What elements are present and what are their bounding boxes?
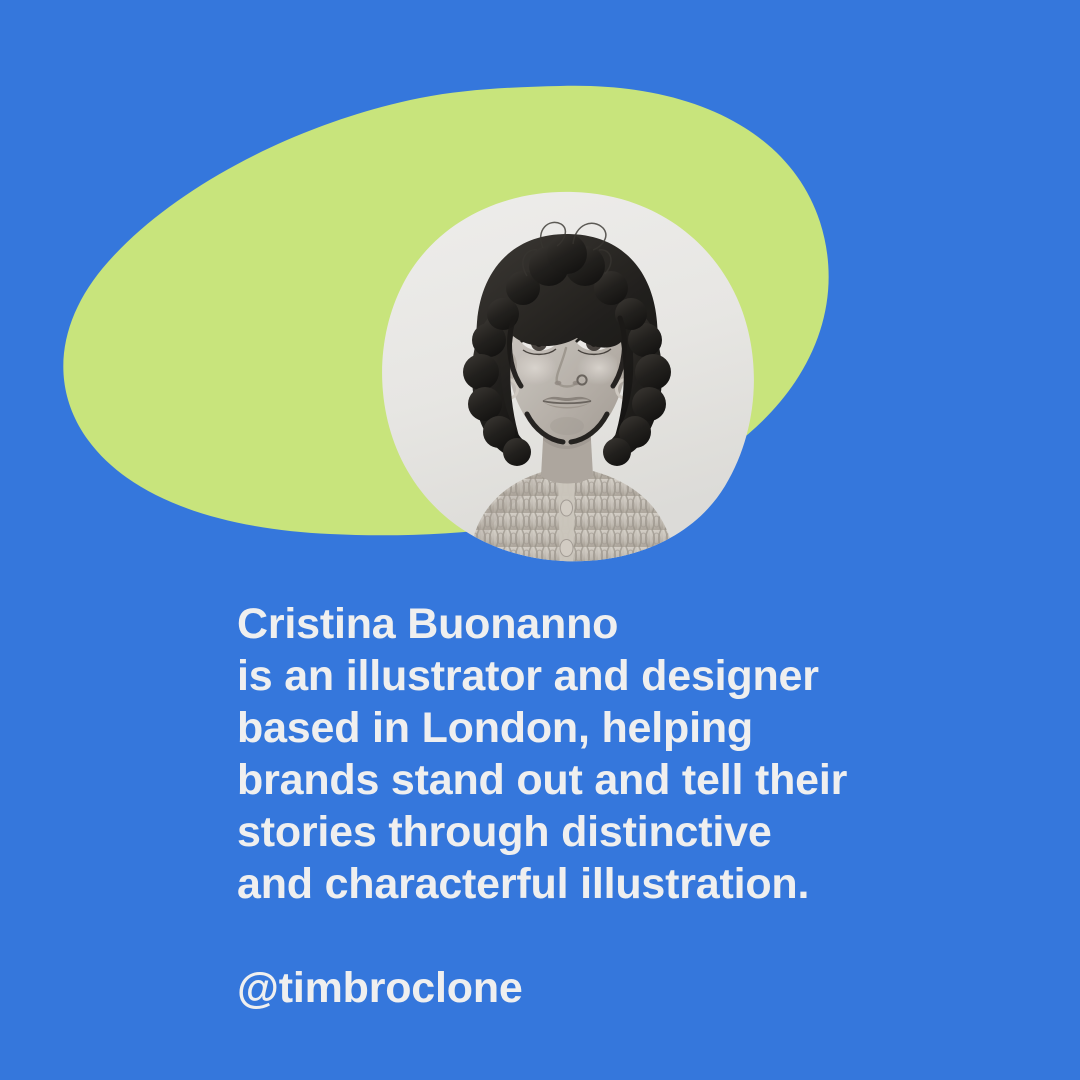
bio-line-5: stories through distinctive	[237, 806, 997, 858]
social-profile-card: Black and white portrait photograph of C…	[0, 0, 1080, 1080]
social-handle[interactable]: @timbroclone	[237, 962, 997, 1014]
bio-line-3: based in London, helping	[237, 702, 997, 754]
portrait-photo: Black and white portrait photograph of C…	[377, 190, 757, 562]
portrait-image-group	[377, 190, 757, 562]
bio-text-block: Cristina Buonanno is an illustrator and …	[237, 598, 997, 1014]
bio-line-name: Cristina Buonanno	[237, 598, 997, 650]
portrait-blob-mask: Black and white portrait photograph of C…	[377, 190, 757, 562]
bio-line-2: is an illustrator and designer	[237, 650, 997, 702]
bio-line-4: brands stand out and tell their	[237, 754, 997, 806]
bio-line-6: and characterful illustration.	[237, 858, 997, 910]
